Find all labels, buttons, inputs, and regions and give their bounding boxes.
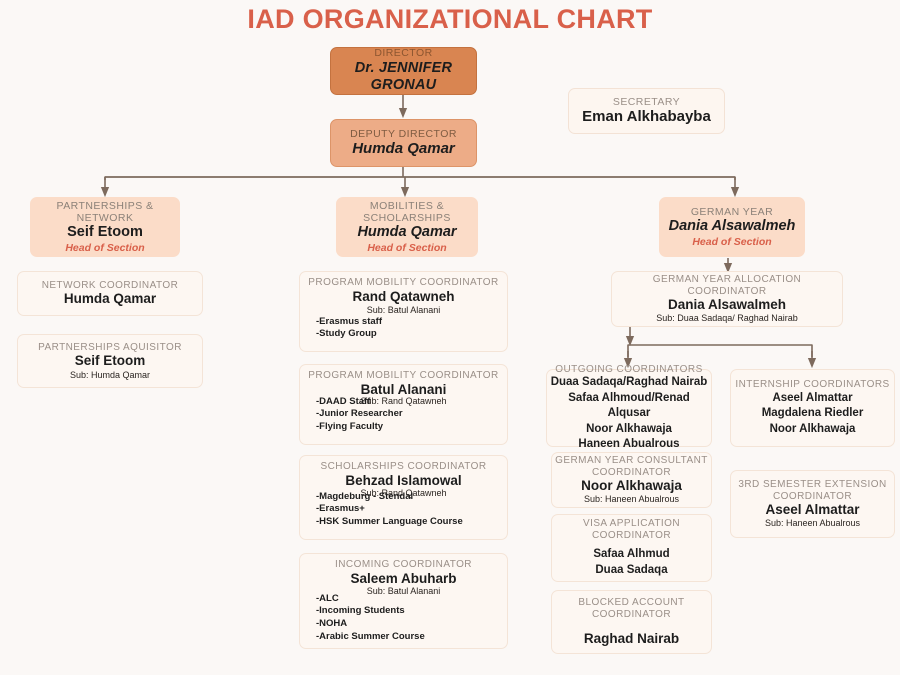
list-item: Haneen Abualrous [547,437,711,452]
node-note: Head of Section [692,236,771,249]
list-item: -Erasmus+ [316,503,500,516]
node-head-german-year[interactable]: GERMAN YEAR Dania Alsawalmeh Head of Sec… [659,197,805,257]
node-head-partnerships[interactable]: PARTNERSHIPS & NETWORK Seif Etoom Head o… [30,197,180,257]
page-title: IAD ORGANIZATIONAL CHART [0,4,900,35]
node-bullets: -Magdeburg - Stendal-Erasmus+-HSK Summer… [307,491,500,529]
node-blocked-account-coordinator[interactable]: BLOCKED ACCOUNT COORDINATOR Raghad Naira… [551,590,712,654]
node-names: Duaa Sadaqa/Raghad NairabSafaa Alhmoud/R… [547,375,711,452]
list-item: -Erasmus staff [316,316,500,329]
list-item: Safaa Alhmoud/Renad Alqusar [547,391,711,422]
list-item: -DAAD Staff [316,396,500,409]
list-item: Noor Alkhawaja [762,422,864,437]
node-sub: Sub: Batul Alanani [367,305,441,316]
node-person: Saleem Abuharb [350,571,456,587]
node-role: GERMAN YEAR CONSULTANT COORDINATOR [552,455,711,479]
node-sub: Sub: Haneen Abualrous [765,518,860,529]
node-program-mobility-coordinator-2[interactable]: PROGRAM MOBILITY COORDINATOR Batul Alana… [299,364,508,445]
node-person: Dr. JENNIFER GRONAU [331,60,476,95]
list-item: -NOHA [316,618,500,631]
node-german-year-allocation-coordinator[interactable]: GERMAN YEAR ALLOCATION COORDINATOR Dania… [611,271,843,327]
node-role: PROGRAM MOBILITY COORDINATOR [308,277,498,289]
node-person: Rand Qatawneh [352,289,454,305]
node-role: GERMAN YEAR ALLOCATION COORDINATOR [612,274,842,298]
node-bullets: -ALC-Incoming Students-NOHA-Arabic Summe… [307,593,500,644]
node-person: Seif Etoom [75,353,146,369]
list-item: -Junior Researcher [316,408,500,421]
list-item: Noor Alkhawaja [547,422,711,437]
node-role: PROGRAM MOBILITY COORDINATOR [308,370,498,382]
list-item: -HSK Summer Language Course [316,516,500,529]
node-names: Safaa AlhmudDuaa Sadaqa [593,547,669,578]
list-item: -Magdeburg - Stendal [316,491,500,504]
node-role: VISA APPLICATION COORDINATOR [552,518,711,542]
node-role: GERMAN YEAR [691,206,773,218]
node-person: Dania Alsawalmeh [669,218,796,235]
node-visa-application-coordinator[interactable]: VISA APPLICATION COORDINATOR Safaa Alhmu… [551,514,712,582]
list-item: Aseel Almattar [762,391,864,406]
node-person: Humda Qamar [352,140,455,158]
node-person: Eman Alkhabayba [582,108,711,126]
node-role: MOBILITIES & SCHOLARSHIPS [337,200,477,225]
list-item: -Incoming Students [316,605,500,618]
node-secretary[interactable]: SECRETARY Eman Alkhabayba [568,88,725,134]
node-person: Raghad Nairab [584,631,679,647]
node-role: DEPUTY DIRECTOR [350,128,457,140]
node-role: DIRECTOR [374,47,432,59]
node-role: NETWORK COORDINATOR [42,280,179,292]
node-person: Humda Qamar [64,291,156,307]
node-role: PARTNERSHIPS & NETWORK [31,200,179,225]
node-german-year-consultant-coordinator[interactable]: GERMAN YEAR CONSULTANT COORDINATOR Noor … [551,452,712,508]
node-person: Behzad Islamowal [345,473,461,489]
node-bullets: -Erasmus staff-Study Group [307,316,500,341]
list-item: -ALC [316,593,500,606]
list-item: Safaa Alhmud [593,547,669,562]
node-bullets: -DAAD Staff-Junior Researcher-Flying Fac… [307,396,500,434]
node-outgoing-coordinators[interactable]: OUTGOING COORDINATORS Duaa Sadaqa/Raghad… [546,369,712,447]
list-item: -Arabic Summer Course [316,631,500,644]
node-partnerships-aquisitor[interactable]: PARTNERSHIPS AQUISITOR Seif Etoom Sub: H… [17,334,203,388]
node-head-mobilities[interactable]: MOBILITIES & SCHOLARSHIPS Humda Qamar He… [336,197,478,257]
node-person: Humda Qamar [357,224,456,241]
node-person: Seif Etoom [67,224,143,241]
list-item: Magdalena Riedler [762,406,864,421]
list-item: Duaa Sadaqa [593,563,669,578]
node-role: OUTGOING COORDINATORS [555,364,702,376]
node-sub: Sub: Haneen Abualrous [584,494,679,505]
org-chart: IAD ORGANIZATIONAL CHART [0,0,900,675]
node-role: SCHOLARSHIPS COORDINATOR [320,461,486,473]
node-role: INCOMING COORDINATOR [335,559,472,571]
node-incoming-coordinator[interactable]: INCOMING COORDINATOR Saleem Abuharb Sub:… [299,553,508,649]
node-sub: Sub: Duaa Sadaqa/ Raghad Nairab [656,313,798,324]
node-role: 3RD SEMESTER EXTENSION COORDINATOR [731,479,894,503]
node-role: BLOCKED ACCOUNT COORDINATOR [552,597,711,621]
node-role: INTERNSHIP COORDINATORS [735,379,889,391]
node-note: Head of Section [65,242,144,255]
node-note: Head of Section [367,242,446,255]
node-internship-coordinators[interactable]: INTERNSHIP COORDINATORS Aseel AlmattarMa… [730,369,895,447]
node-role: PARTNERSHIPS AQUISITOR [38,342,182,354]
node-role: SECRETARY [613,96,680,108]
node-scholarships-coordinator[interactable]: SCHOLARSHIPS COORDINATOR Behzad Islamowa… [299,455,508,540]
node-third-semester-extension-coordinator[interactable]: 3RD SEMESTER EXTENSION COORDINATOR Aseel… [730,470,895,538]
node-person: Aseel Almattar [765,502,859,518]
node-person: Dania Alsawalmeh [668,297,786,313]
node-person: Noor Alkhawaja [581,478,682,494]
node-names: Aseel AlmattarMagdalena RiedlerNoor Alkh… [762,391,864,437]
node-sub: Sub: Humda Qamar [70,370,150,381]
list-item: Duaa Sadaqa/Raghad Nairab [547,375,711,390]
list-item: -Flying Faculty [316,421,500,434]
node-program-mobility-coordinator-1[interactable]: PROGRAM MOBILITY COORDINATOR Rand Qatawn… [299,271,508,352]
node-network-coordinator[interactable]: NETWORK COORDINATOR Humda Qamar [17,271,203,316]
node-deputy-director[interactable]: DEPUTY DIRECTOR Humda Qamar [330,119,477,167]
node-director[interactable]: DIRECTOR Dr. JENNIFER GRONAU [330,47,477,95]
list-item: -Study Group [316,328,500,341]
